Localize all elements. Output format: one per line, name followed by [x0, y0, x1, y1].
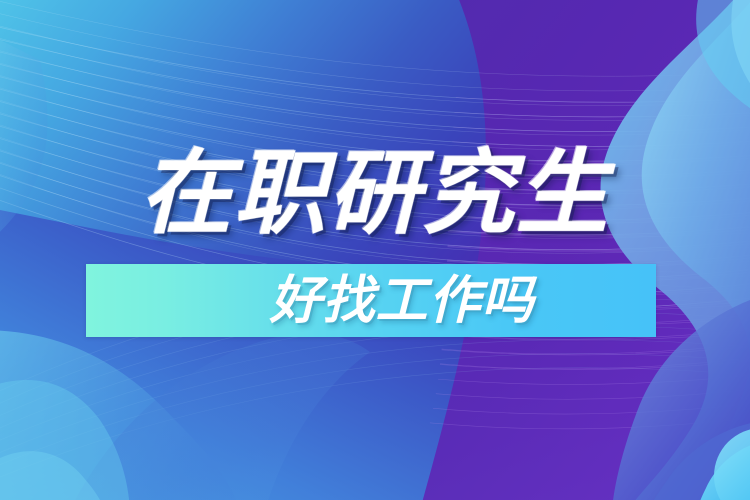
- subtitle-text: 好找工作吗: [86, 275, 656, 327]
- promo-banner: 在职研究生 好找工作吗: [0, 0, 750, 500]
- subtitle-banner-bar: 好找工作吗: [86, 264, 656, 337]
- background-artwork: [0, 0, 750, 500]
